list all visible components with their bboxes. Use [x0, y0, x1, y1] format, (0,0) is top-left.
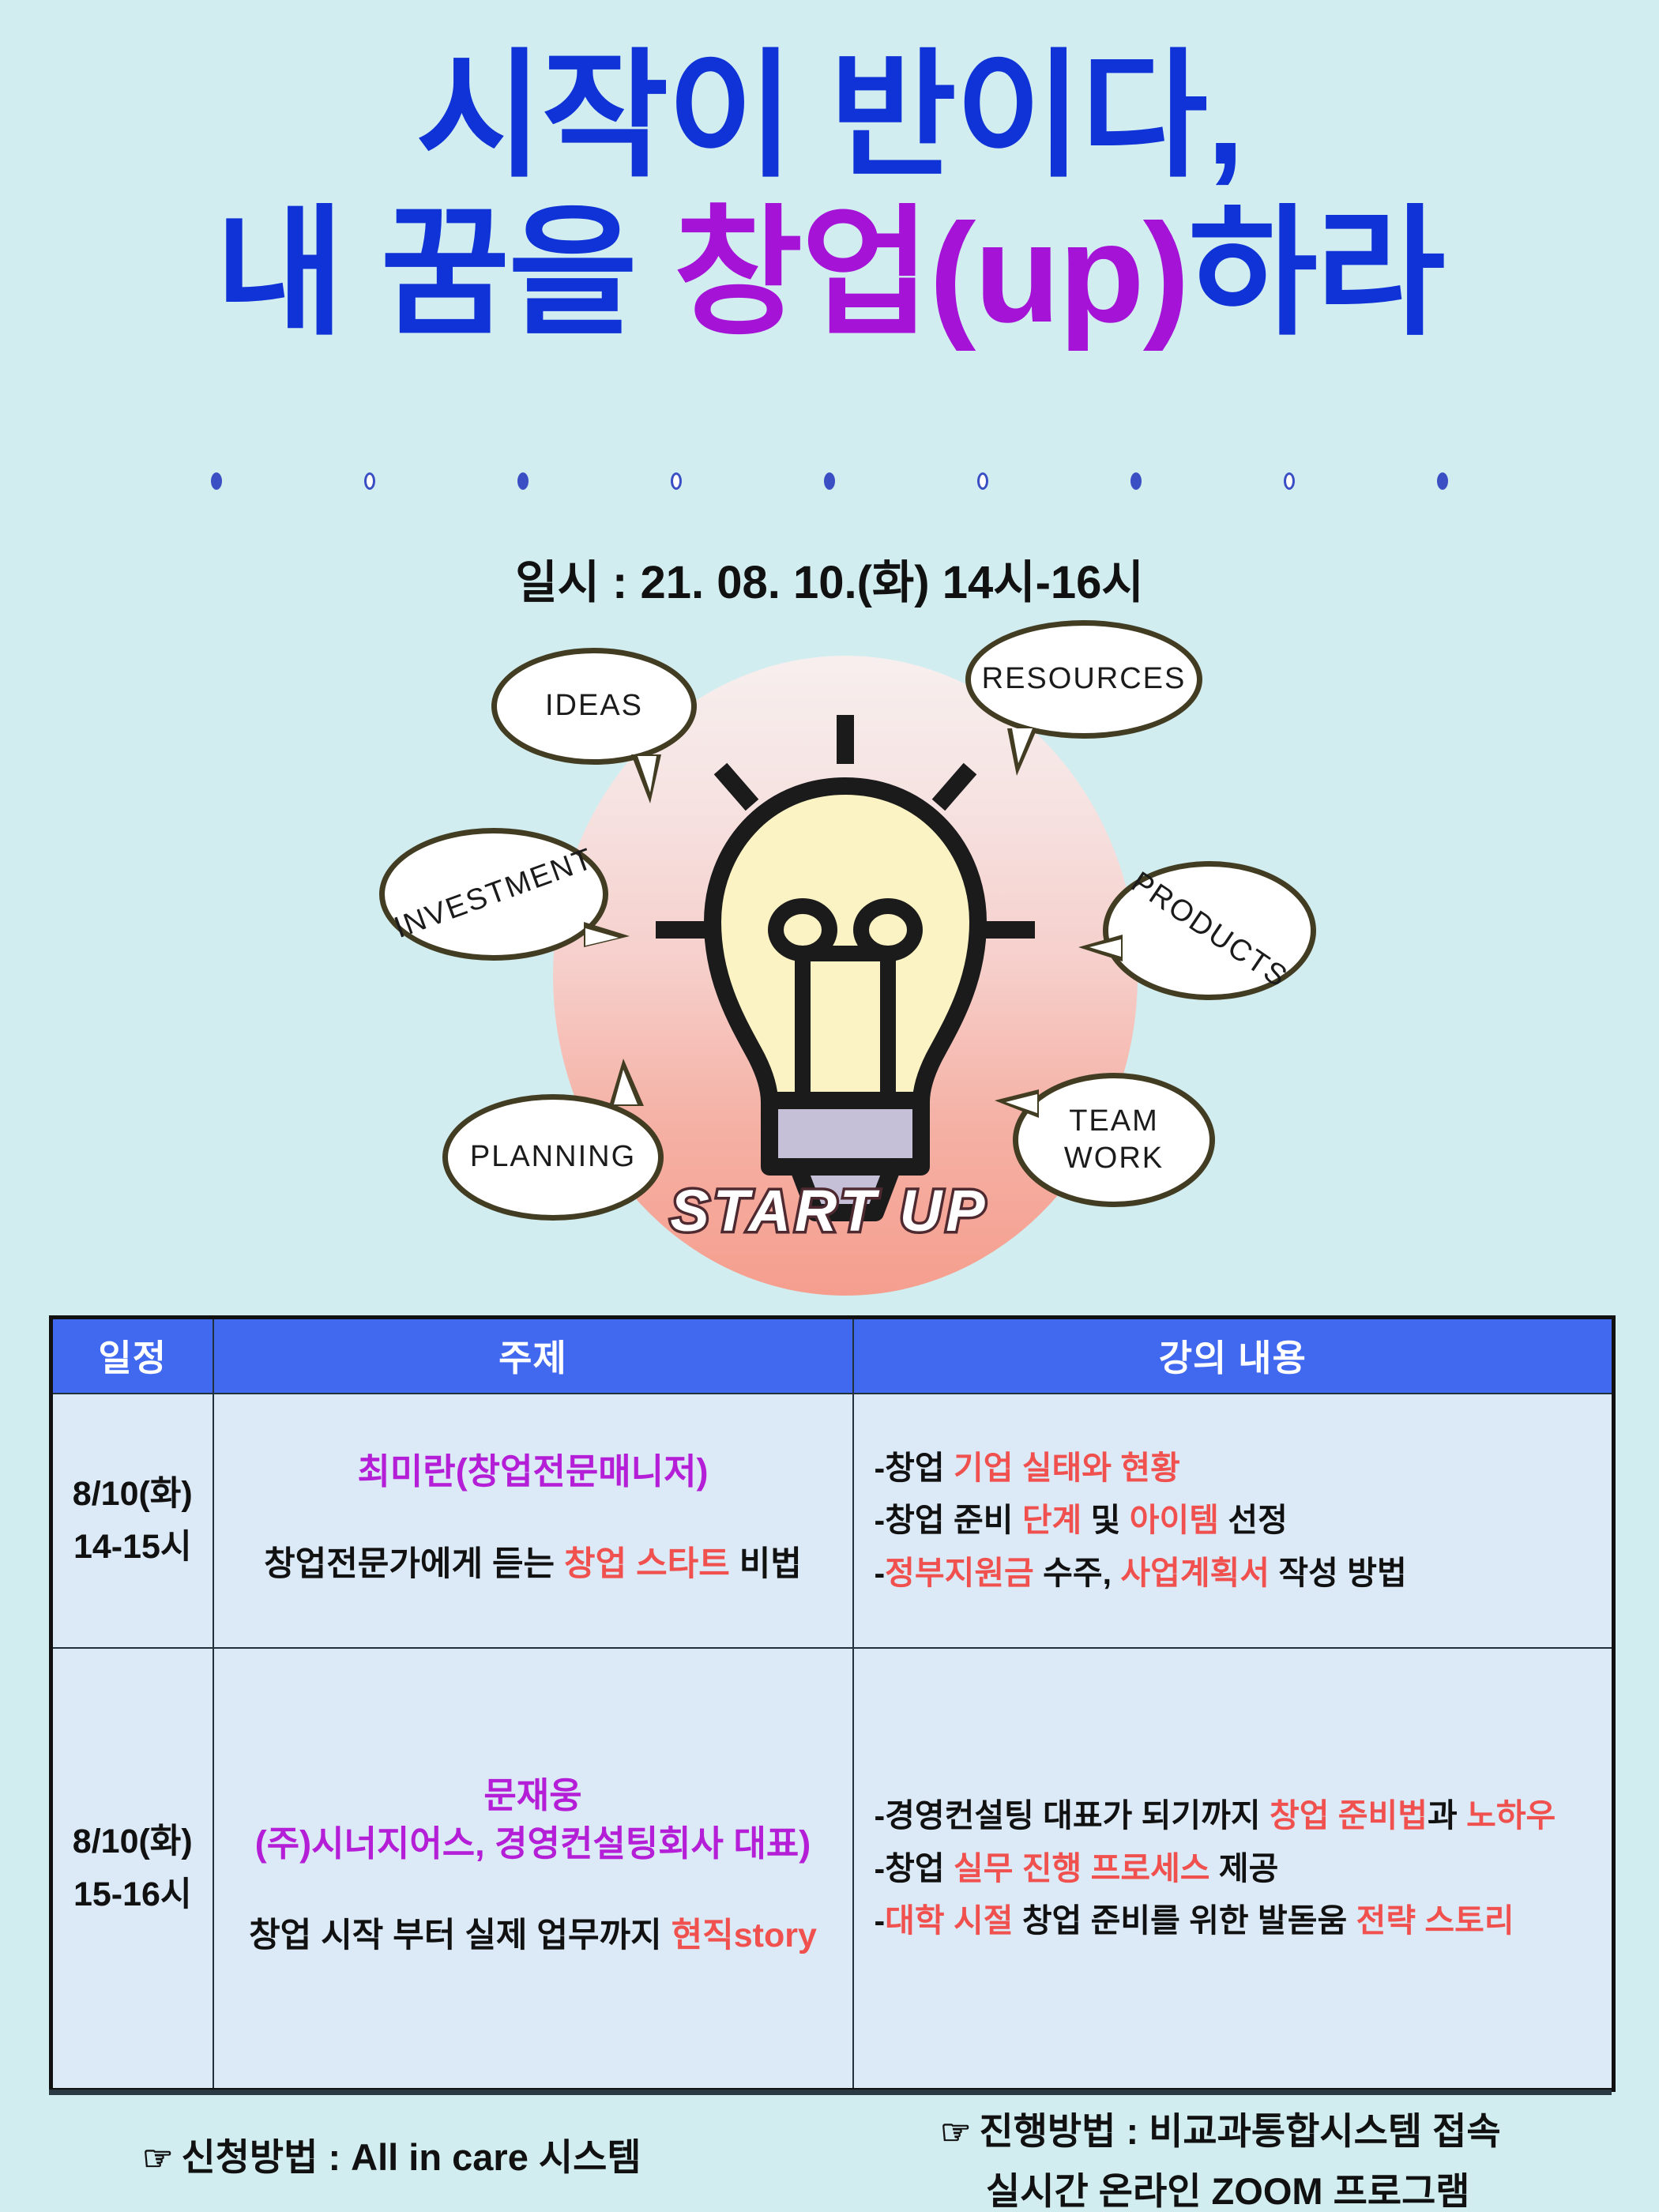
bubble-teamwork-label: TEAM WORK [1064, 1103, 1164, 1178]
row2-speaker-name: 문재웅 [228, 1772, 838, 1820]
bubble-investment-label: INVESTMENT [389, 841, 598, 947]
divider-dot [1437, 472, 1448, 490]
row1-topic-pre: 창업전문가에게 듣는 [264, 1545, 564, 1583]
title-line-2-highlight: 창업(up) [674, 194, 1189, 352]
row2-topic: 문재웅 (주)시너지어스, 경영컨설팅회사 대표) 창업 시작 부터 실제 업무… [213, 1648, 853, 2090]
title-line-2: 내 꿈을 창업(up)하라 [0, 194, 1659, 352]
row1-topic: 최미란(창업전문매니저) 창업전문가에게 듣는 창업 스타트 비법 [213, 1394, 853, 1648]
bubble-resources-label: RESOURCES [982, 660, 1187, 698]
bubble-resources: RESOURCES [965, 620, 1202, 739]
bubble-tail [1078, 935, 1123, 961]
pointing-hand-icon: ☞ [142, 2139, 181, 2178]
bubble-planning-label: PLANNING [470, 1138, 636, 1176]
lightbulb-illustration: START UP IDEAS RESOURCES INVESTMENT PROD… [0, 632, 1659, 1311]
delivery-method-line-2: 실시간 온라인 ZOOM 프로그램 [940, 2161, 1501, 2212]
divider-dot [824, 472, 835, 490]
bubble-teamwork: TEAM WORK [1013, 1073, 1215, 1207]
row2-speaker-affiliation: (주)시너지어스, 경영컨설팅회사 대표) [228, 1820, 838, 1868]
divider-dot [211, 472, 222, 490]
title-line-2-prefix: 내 꿈을 [215, 194, 673, 352]
row2-when: 8/10(화) 15-16시 [51, 1648, 213, 2090]
row1-speaker: 최미란(창업전문매니저) [228, 1448, 838, 1496]
footer-divider [49, 2090, 1612, 2095]
row2-topic-pre: 창업 시작 부터 실제 업무까지 [249, 1917, 671, 1954]
row2-topic-line: 창업 시작 부터 실제 업무까지 현직story [228, 1912, 838, 1959]
divider-dot [364, 472, 375, 490]
bubble-tail [584, 922, 630, 947]
delivery-method-line-1: ☞진행방법 : 비교과통합시스템 접속 [940, 2101, 1501, 2161]
delivery-method-text: 진행방법 : 비교과통합시스템 접속 [979, 2110, 1500, 2152]
row2-topic-highlight: 현직story [671, 1917, 817, 1954]
header-detail: 강의 내용 [853, 1318, 1614, 1394]
table-row: 8/10(화) 15-16시 문재웅 (주)시너지어스, 경영컨설팅회사 대표)… [51, 1648, 1614, 2090]
schedule-table: 일정 주제 강의 내용 8/10(화) 14-15시 최미란(창업전문매니저) … [49, 1315, 1616, 2092]
divider-dot [977, 472, 988, 490]
divider-dot [517, 472, 529, 490]
row1-topic-line: 창업전문가에게 듣는 창업 스타트 비법 [228, 1540, 838, 1588]
divider-dot [1130, 472, 1142, 490]
row2-speaker: 문재웅 (주)시너지어스, 경영컨설팅회사 대표) [228, 1772, 838, 1868]
bubble-tail [631, 754, 661, 803]
bubble-tail [609, 1059, 644, 1106]
divider-dot [1284, 472, 1295, 490]
bubble-ideas: IDEAS [491, 648, 697, 765]
start-up-word: START UP [0, 1177, 1659, 1244]
row1-detail-line: -창업 기업 실태와 현황 [875, 1442, 1601, 1494]
bubble-products: PRODUCTS [1103, 861, 1316, 1000]
table-row: 8/10(화) 14-15시 최미란(창업전문매니저) 창업전문가에게 듣는 창… [51, 1394, 1614, 1648]
bubble-tail [1007, 728, 1037, 776]
row2-detail-line: -창업 실무 진행 프로세스 제공 [875, 1842, 1601, 1894]
row2-detail-line: -경영컨설팅 대표가 되기까지 창업 준비법과 노하우 [875, 1789, 1601, 1841]
apply-method-text: 신청방법 : All in care 시스템 [181, 2136, 641, 2178]
row2-time: 15-16시 [56, 1868, 209, 1921]
bubble-investment: INVESTMENT [379, 828, 608, 961]
row1-detail-line: -정부지원금 수주, 사업계획서 작성 방법 [875, 1547, 1601, 1599]
poster-title: 시작이 반이다, 내 꿈을 창업(up)하라 [0, 39, 1659, 352]
bubble-tail [995, 1089, 1039, 1118]
poster-root: 시작이 반이다, 내 꿈을 창업(up)하라 일시 : 21. 08. 10.(… [0, 0, 1659, 2212]
title-line-2-suffix: 하라 [1188, 194, 1444, 352]
row2-detail: -경영컨설팅 대표가 되기까지 창업 준비법과 노하우 -창업 실무 진행 프로… [853, 1648, 1614, 2090]
row2-date: 8/10(화) [56, 1815, 209, 1868]
apply-method: ☞신청방법 : All in care 시스템 [142, 2127, 641, 2181]
row1-detail-line: -창업 준비 단계 및 아이템 선정 [875, 1494, 1601, 1546]
header-when: 일정 [51, 1318, 213, 1394]
row1-topic-highlight: 창업 스타트 [564, 1545, 730, 1583]
row2-detail-line: -대학 시절 창업 준비를 위한 발돋움 전략 스토리 [875, 1894, 1601, 1947]
bubble-ideas-label: IDEAS [545, 687, 643, 725]
header-topic: 주제 [213, 1318, 853, 1394]
pointing-hand-icon: ☞ [940, 2113, 979, 2152]
row1-detail: -창업 기업 실태와 현황 -창업 준비 단계 및 아이템 선정 -정부지원금 … [853, 1394, 1614, 1648]
divider-dot [671, 472, 682, 490]
dot-divider [0, 472, 1659, 490]
row1-topic-post: 비법 [730, 1545, 802, 1583]
row1-date: 8/10(화) [56, 1468, 209, 1521]
bubble-products-label: PRODUCTS [1124, 864, 1296, 997]
title-line-1: 시작이 반이다, [0, 39, 1659, 194]
table-header-row: 일정 주제 강의 내용 [51, 1318, 1614, 1394]
delivery-method: ☞진행방법 : 비교과통합시스템 접속 실시간 온라인 ZOOM 프로그램 [940, 2101, 1501, 2212]
row1-when: 8/10(화) 14-15시 [51, 1394, 213, 1648]
lightbulb-icon [648, 707, 1043, 1244]
event-datetime: 일시 : 21. 08. 10.(화) 14시-16시 [0, 545, 1659, 611]
bubble-planning: PLANNING [442, 1094, 664, 1221]
row1-time: 14-15시 [56, 1521, 209, 1574]
